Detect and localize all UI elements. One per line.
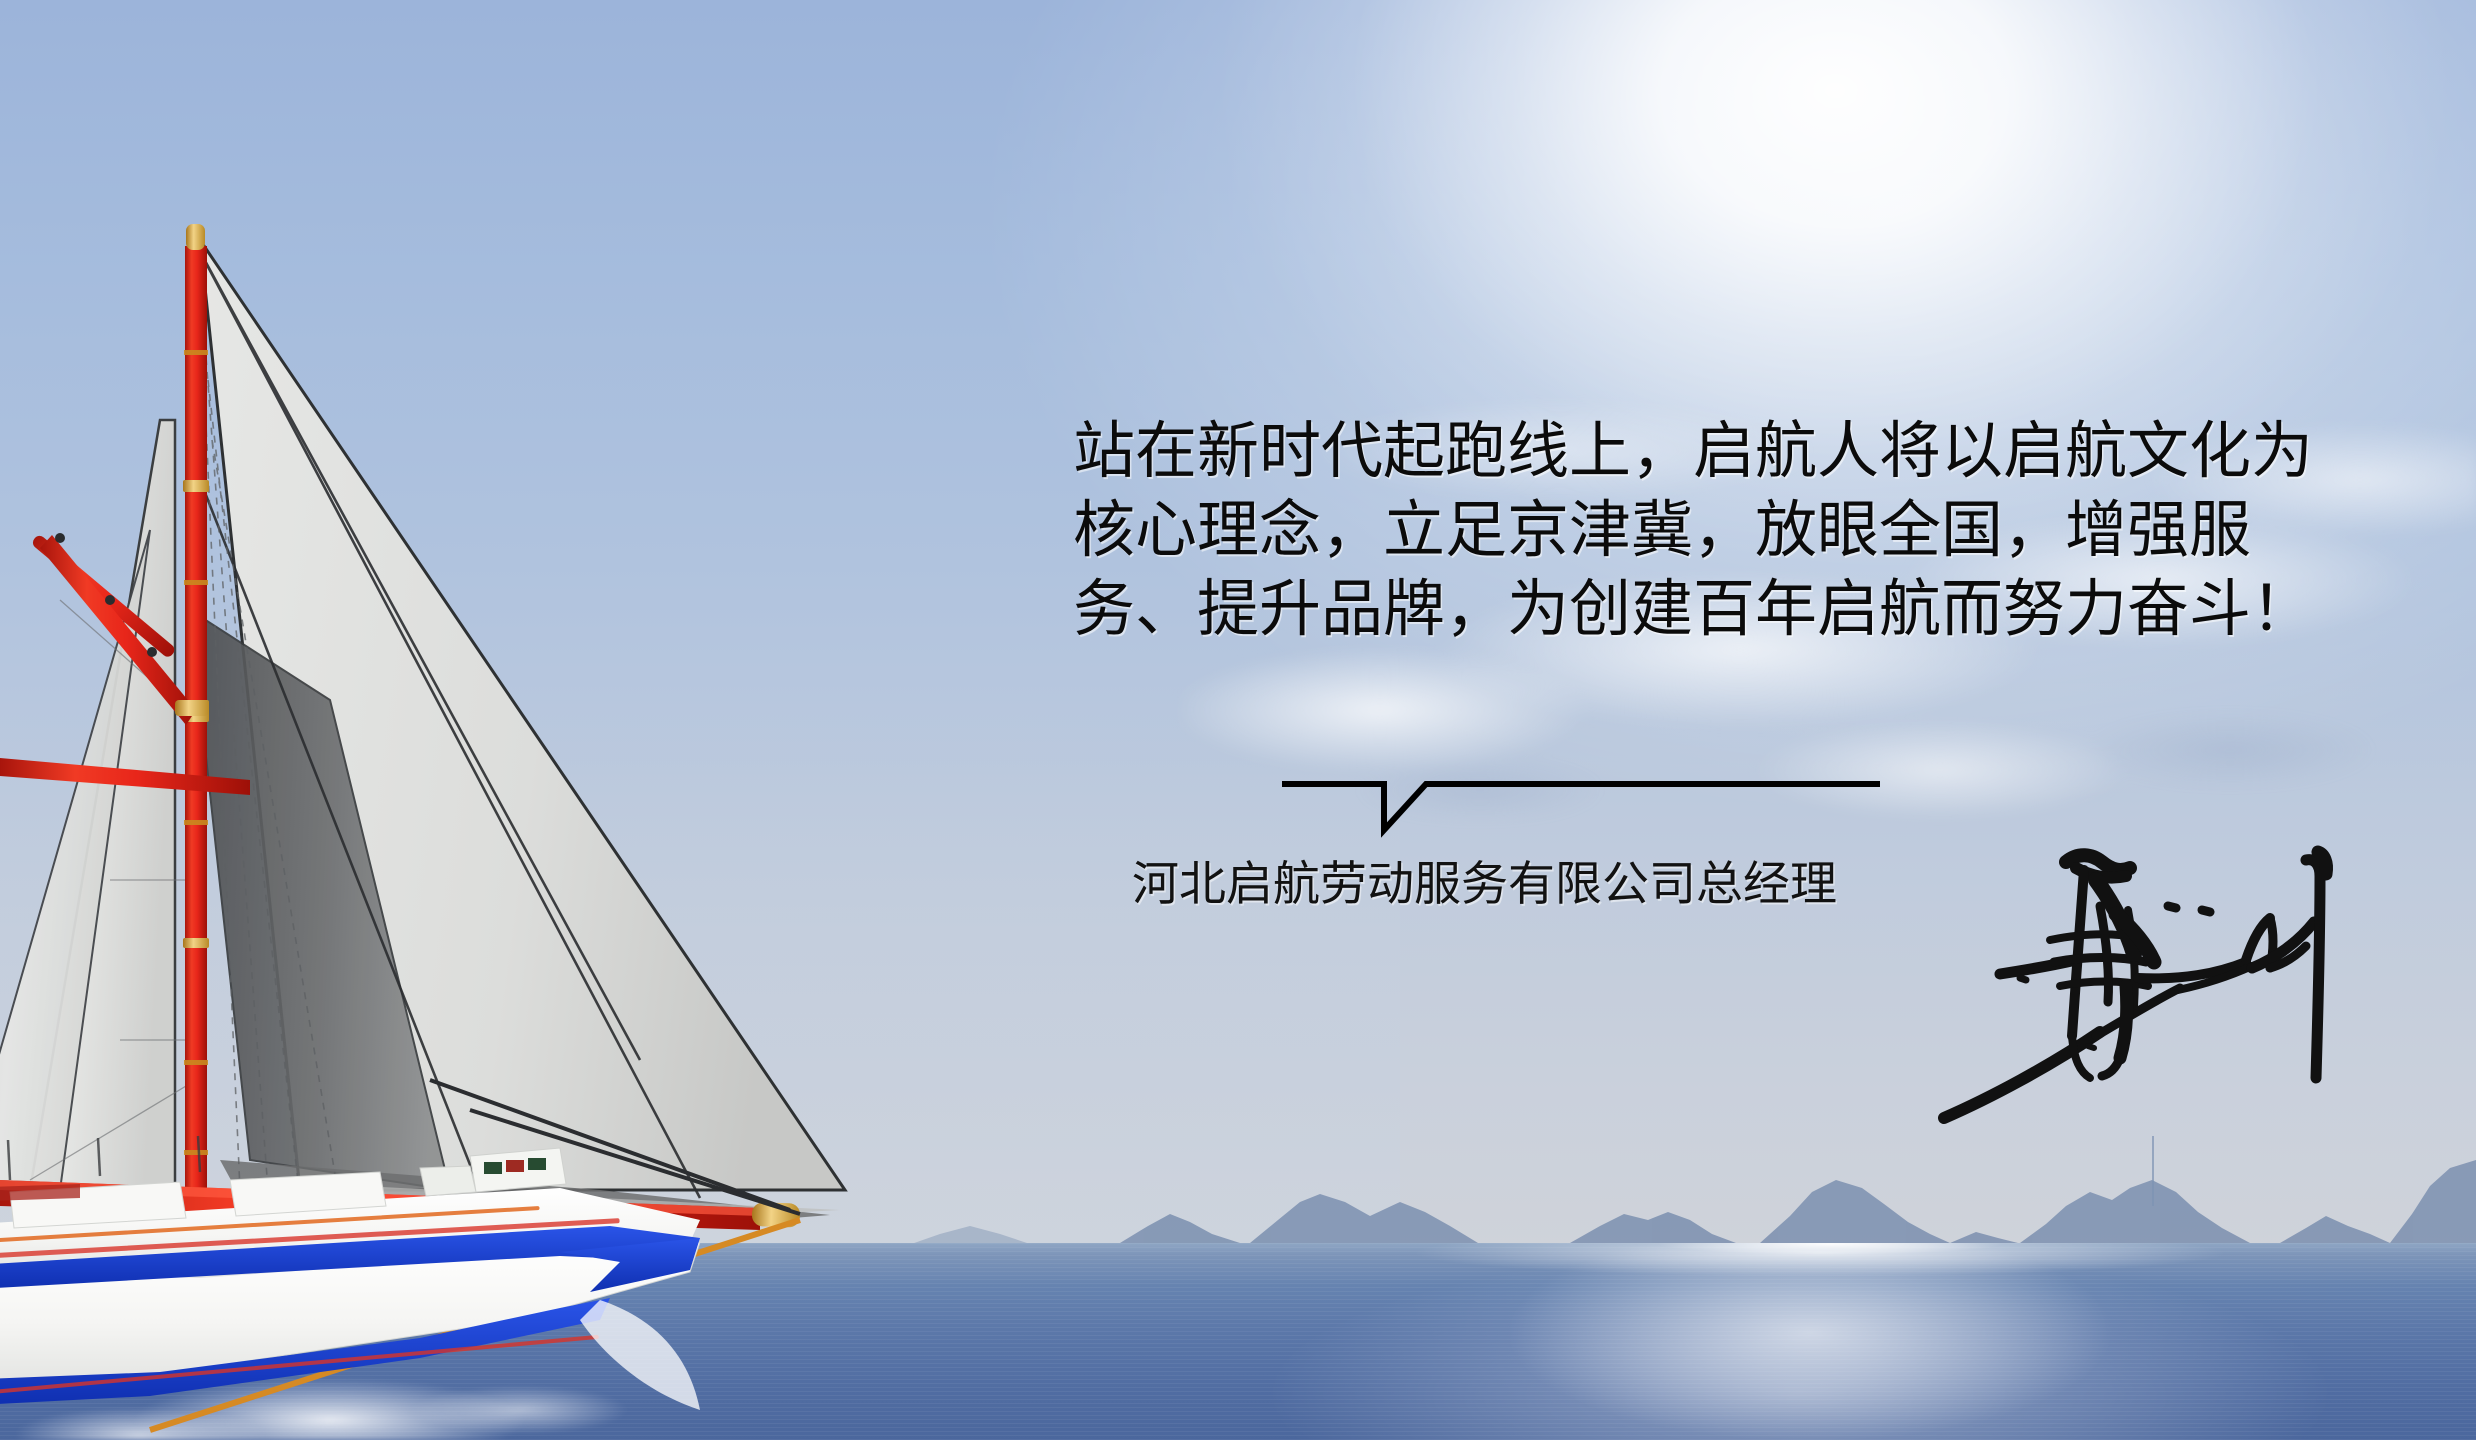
sailing-yacht xyxy=(0,180,900,1440)
manager-quote-text: 站在新时代起跑线上，启航人将以启航文化为核心理念，立足京津冀，放眼全国，增强服务… xyxy=(1073,412,2373,649)
banner-stage: 站在新时代起跑线上，启航人将以启航文化为核心理念，立足京津冀，放眼全国，增强服务… xyxy=(0,0,2476,1440)
handwritten-brush-signature xyxy=(1930,810,2450,1190)
v-notch-rule xyxy=(1280,770,1900,850)
attribution-line: 河北启航劳动服务有限公司总经理 xyxy=(1132,856,1837,912)
